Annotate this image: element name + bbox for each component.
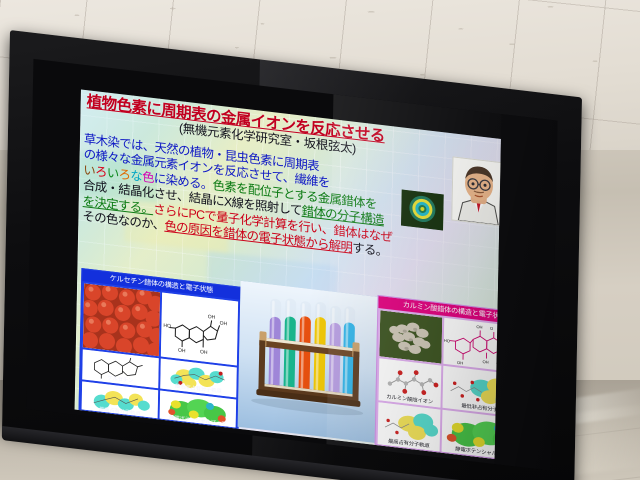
screen-letterbox-right	[494, 114, 557, 471]
svg-text:OH: OH	[178, 348, 186, 355]
wall-mounted-display: 植物色素に周期表の金属イオンを反応させる (無機元素化学研究室・坂根弦太) 草木…	[2, 30, 582, 480]
svg-text:OH: OH	[476, 324, 482, 330]
panel-quercetin-cell-esp: 静電ポテンシャルマップ	[160, 391, 237, 429]
test-tube-rack-image	[238, 281, 379, 443]
svg-text:O: O	[490, 326, 493, 331]
slide-body-segment-3-3: い	[107, 166, 119, 181]
panel-quercetin: ケルセチン錯体の構造と電子状態	[79, 268, 242, 429]
panel-carminic-cell-homo: 最高占有分子軌道	[378, 402, 441, 451]
panel-quercetin-cell-formula: HOOH OHOHOH	[161, 293, 238, 366]
panel-carminic-acid: カルミン酸錯体の構造と電子状態	[375, 295, 501, 459]
svg-text:OH: OH	[208, 314, 216, 321]
panel-quercetin-cell-homo: 最高占有分子軌道	[82, 381, 159, 420]
svg-text:HO: HO	[163, 323, 171, 330]
slide-body-segment-3-5: な	[130, 168, 142, 183]
svg-text:OH: OH	[457, 360, 463, 366]
panel-carminic-cell-formula: OHOOH OHOHCH₃ HOOH	[443, 318, 500, 374]
panel-carminic-cell-ballstick: カルミン酸陰イオン	[378, 358, 441, 407]
tv-screen: 植物色素に周期表の金属イオンを反応させる (無機元素化学研究室・坂根弦太) 草木…	[26, 59, 557, 471]
svg-text:OH: OH	[200, 349, 208, 356]
svg-text:HO: HO	[444, 338, 450, 344]
panel-carminic-cell-photo	[379, 310, 442, 363]
orbital-cross-section-image	[401, 189, 444, 230]
avatar	[451, 156, 501, 226]
panel-quercetin-cell-photo	[83, 283, 160, 356]
slide-body-segment-3-1: い	[83, 163, 95, 178]
svg-text:OH: OH	[220, 320, 228, 327]
photo-scene: 植物色素に周期表の金属イオンを反応させる (無機元素化学研究室・坂根弦太) 草木…	[0, 0, 640, 480]
slide-body-segment-6-3: する。	[352, 241, 388, 259]
panel-carminic-cell-esp: 静電ポテンシャルマップ	[442, 410, 501, 459]
presentation-slide: 植物色素に周期表の金属イオンを反応させる (無機元素化学研究室・坂根弦太) 草木…	[75, 89, 501, 459]
slide-body-segment-3-2: ろ	[95, 164, 107, 179]
slide-body-segment-3-4: ろ	[118, 167, 130, 182]
slide-body-segment-3-6: 色	[142, 170, 154, 185]
svg-text:OH: OH	[483, 359, 489, 365]
